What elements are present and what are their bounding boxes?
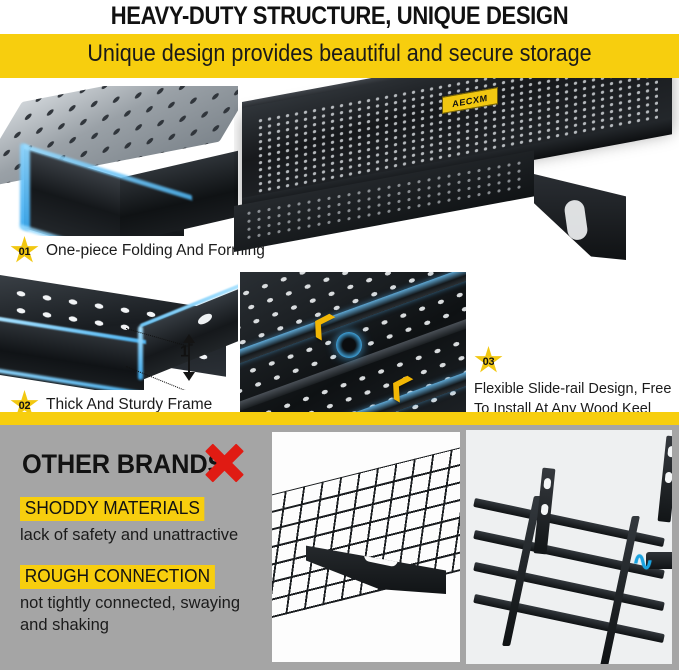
page-subtitle: Unique design provides beautiful and sec… (34, 40, 645, 68)
wire-mesh-grid (272, 440, 460, 624)
drawback-item: ROUGH CONNECTION not tightly connected, … (20, 565, 270, 636)
channel-edge-glow-left (20, 142, 30, 231)
photo-competitor-wire-shelf (272, 432, 460, 662)
photo-slide-rail: ❮ ❮ (240, 272, 466, 416)
feature-label-01: 01 One-piece Folding And Forming (10, 236, 265, 265)
dimension-arrow-down-icon (183, 372, 195, 381)
dimension-value: 1" (180, 342, 193, 361)
brand-name: AECXM (452, 92, 488, 108)
feature-number: 02 (19, 400, 31, 412)
drawback-description: not tightly connected, swaying and shaki… (20, 592, 263, 636)
feature-text: One-piece Folding And Forming (46, 242, 265, 260)
red-x-icon (203, 443, 245, 483)
dimension-callout: 1" (126, 310, 216, 388)
section-divider (0, 412, 679, 425)
drawback-highlight: ROUGH CONNECTION (20, 565, 215, 589)
feature-text: Thick And Sturdy Frame (46, 396, 212, 414)
photo-competitor-tube-rack: ∿ (466, 430, 672, 664)
rack-wall-arm (658, 436, 672, 523)
shelf-bracket (534, 174, 626, 260)
infographic-page: HEAVY-DUTY STRUCTURE, UNIQUE DESIGN Uniq… (0, 0, 679, 670)
star-badge-icon: 03 (474, 346, 503, 375)
dimension-leader-bottom (126, 366, 188, 390)
feature-number: 03 (483, 356, 495, 368)
loose-joint-highlight-icon: ∿ (632, 548, 654, 578)
page-title: HEAVY-DUTY STRUCTURE, UNIQUE DESIGN (41, 2, 639, 31)
star-badge-icon: 01 (10, 236, 39, 265)
drawback-highlight: SHODDY MATERIALS (20, 497, 205, 521)
other-brands-title: OTHER BRANDS (22, 449, 224, 480)
photo-wall-shelf-hero: AECXM (234, 78, 679, 268)
rail-fastener-hub (336, 332, 362, 358)
feature-number: 01 (19, 246, 31, 258)
photo-one-piece-channel (0, 86, 238, 236)
feature-photo-area: 01 One-piece Folding And Forming 1" (0, 78, 679, 412)
drawback-item: SHODDY MATERIALS lack of safety and unat… (20, 497, 270, 546)
other-brands-section: OTHER BRANDS SHODDY MATERIALS lack of sa… (0, 425, 679, 670)
drawback-description: lack of safety and unattractive (20, 524, 263, 546)
photo-sturdy-frame-corner: 1" (0, 268, 238, 390)
